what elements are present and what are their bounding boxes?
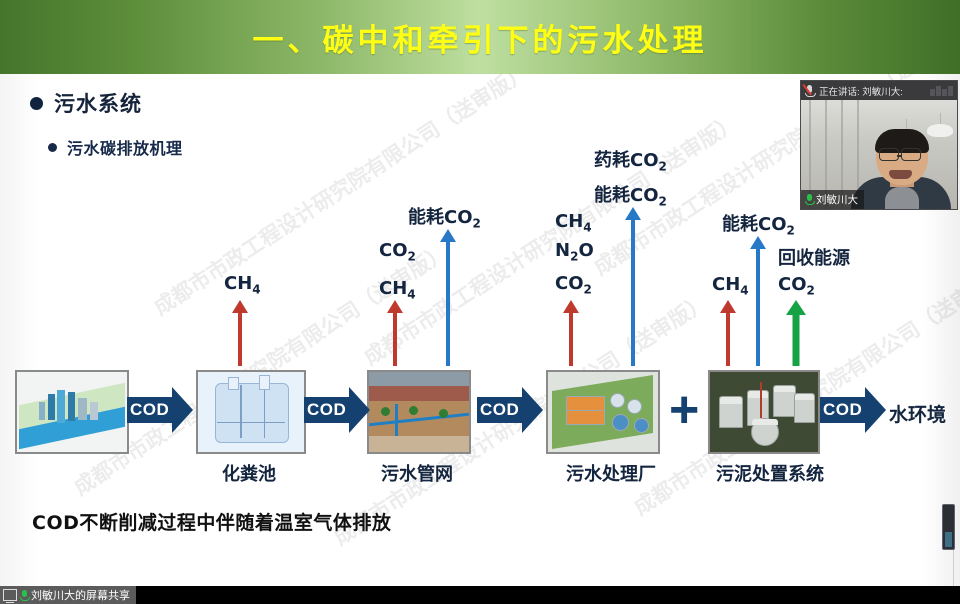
participant-name-badge: 刘敏川大: [801, 190, 864, 209]
arrow-shaft: [446, 242, 450, 366]
scroll-slider-fill: [945, 532, 952, 547]
screen-share-label: 刘敏川大的屏幕共享: [31, 587, 130, 603]
flow-arrow-cod-1: COD: [127, 387, 193, 433]
flow-arrow-label: COD: [130, 400, 169, 420]
bullet-item-level1: 污水系统: [30, 88, 142, 118]
emission-label-wwtp-ch4: CH4: [555, 211, 592, 235]
arrow-head-icon: [172, 387, 193, 433]
arrow-head-icon: [786, 300, 806, 315]
process-box-septic-tank[interactable]: [196, 370, 306, 454]
emission-label-wwtp-energy-co2: 能耗CO2: [594, 185, 667, 209]
emission-arrow-sewer-ch4: [387, 300, 403, 366]
arrow-head-icon: [625, 207, 641, 220]
arrow-shaft: [238, 313, 242, 366]
bullet-label: 污水系统: [54, 88, 142, 118]
emission-arrow-sludge-ch4: [720, 300, 736, 366]
emission-label-wwtp-chem-co2: 药耗CO2: [594, 150, 667, 174]
video-thumbnail-panel[interactable]: 正在讲话: 刘敏川大: 刘敏川大: [800, 80, 958, 210]
video-feed: 刘敏川大: [801, 100, 957, 209]
flow-arrow-body: COD: [127, 397, 172, 423]
bottom-status-bar: 刘敏川大的屏幕共享: [0, 586, 960, 604]
emission-arrow-septic-ch4: [232, 300, 248, 366]
slide-caption: COD不断削减过程中伴随着温室气体排放: [32, 508, 391, 535]
process-image-sludge-system: [710, 372, 818, 452]
flow-arrow-body: COD: [820, 397, 865, 423]
emission-arrow-recovery: [786, 300, 806, 366]
slide-title: 一、碳中和牵引下的污水处理: [253, 15, 708, 60]
arrow-head-icon: [387, 300, 403, 313]
flow-arrow-body: COD: [477, 397, 522, 423]
arrow-head-icon: [440, 229, 456, 242]
flow-arrow-cod-4: COD: [820, 387, 886, 433]
arrow-head-icon: [349, 387, 370, 433]
flow-arrow-label: COD: [823, 400, 862, 420]
arrow-shaft: [569, 313, 573, 366]
participant-name: 刘敏川大: [816, 192, 858, 207]
process-box-city[interactable]: [15, 370, 129, 454]
emission-label-sewer-co2: CO2: [379, 240, 416, 264]
arrow-head-icon: [750, 236, 766, 249]
screen-share-view: 一、碳中和牵引下的污水处理 成都市市政工程设计研究院有限公司（送审版） 成都市市…: [0, 0, 960, 604]
bullet-dot-icon: [30, 97, 43, 110]
emission-label-recovery-co2: CO2: [778, 274, 815, 298]
arrow-head-icon: [563, 300, 579, 313]
flow-arrow-body: COD: [304, 397, 349, 423]
process-label-sewer-network: 污水管网: [381, 460, 453, 486]
video-panel-header: 正在讲话: 刘敏川大:: [801, 81, 957, 100]
mic-muted-icon: [805, 85, 814, 97]
process-image-sewer-network: [369, 372, 469, 452]
process-label-septic-tank: 化粪池: [222, 460, 276, 486]
emission-label-sewer-ch4: CH4: [379, 278, 416, 302]
emission-arrow-sludge-energy: [750, 236, 766, 366]
bullet-dot-icon: [48, 143, 57, 152]
end-label-water-environment: 水环境: [889, 400, 946, 427]
screen-share-indicator[interactable]: 刘敏川大的屏幕共享: [0, 586, 136, 604]
process-box-wwtp[interactable]: [546, 370, 660, 454]
emission-arrow-wwtp: [563, 300, 579, 366]
arrow-head-icon: [865, 387, 886, 433]
process-image-septic-tank: [198, 372, 304, 452]
emission-label-wwtp-co2: CO2: [555, 273, 592, 297]
arrow-head-icon: [522, 387, 543, 433]
emission-label-sewer-energy-co2: 能耗CO2: [408, 207, 481, 231]
bullet-item-level2: 污水碳排放机理: [48, 135, 183, 159]
process-box-sewer-network[interactable]: [367, 370, 471, 454]
emission-label-wwtp-n2o: N2O: [555, 240, 594, 264]
slide-title-bar: 一、碳中和牵引下的污水处理: [0, 0, 960, 74]
screen-share-icon: [3, 589, 17, 601]
arrow-shaft: [631, 220, 635, 366]
emission-arrow-sewer-energy: [440, 229, 456, 366]
participant-video-image: [857, 133, 945, 209]
process-image-wwtp: [548, 372, 658, 452]
flow-arrow-label: COD: [480, 400, 519, 420]
arrow-head-icon: [232, 300, 248, 313]
flow-arrow-cod-2: COD: [304, 387, 370, 433]
flow-arrow-label: COD: [307, 400, 346, 420]
emission-label-septic-ch4: CH4: [224, 273, 261, 297]
process-label-sludge-system: 污泥处置系统: [716, 460, 824, 486]
flow-arrow-cod-3: COD: [477, 387, 543, 433]
active-speaker-label: 正在讲话: 刘敏川大:: [819, 84, 903, 98]
emission-arrow-wwtp-energy: [625, 207, 641, 366]
process-image-city: [17, 372, 127, 452]
mic-active-icon: [20, 590, 28, 601]
arrow-shaft: [793, 315, 800, 366]
emission-label-sludge-energy-co2: 能耗CO2: [722, 214, 795, 238]
emission-label-recovery: 回收能源: [778, 248, 850, 270]
arrow-shaft: [393, 313, 397, 366]
arrow-head-icon: [720, 300, 736, 313]
bullet-label: 污水碳排放机理: [67, 135, 183, 159]
emission-label-sludge-ch4: CH4: [712, 274, 749, 298]
signal-strength-icon: [930, 86, 953, 96]
arrow-shaft: [756, 249, 760, 366]
arrow-shaft: [726, 313, 730, 366]
process-box-sludge-system[interactable]: [708, 370, 820, 454]
scroll-slider[interactable]: [942, 504, 955, 550]
process-label-wwtp: 污水处理厂: [566, 460, 656, 486]
plus-symbol: +: [669, 384, 699, 436]
mic-active-icon: [805, 194, 813, 205]
